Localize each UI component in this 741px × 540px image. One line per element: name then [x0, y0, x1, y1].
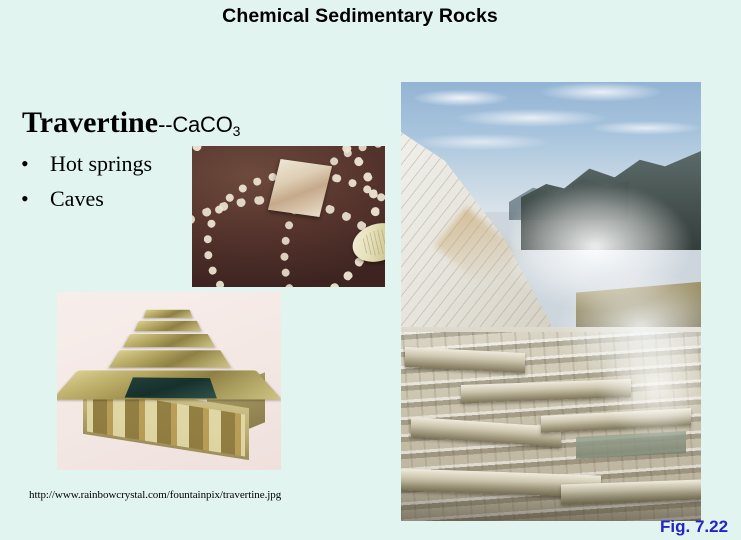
fountain-tier [143, 310, 192, 318]
image-credit-url: http://www.rainbowcrystal.com/fountainpi… [29, 489, 281, 501]
fountain-tier [109, 350, 231, 367]
list-item-label: Hot springs [50, 151, 152, 176]
formula-prefix: --CaCO [158, 112, 233, 137]
bullet-icon: • [21, 185, 29, 213]
fountain-tier [123, 334, 215, 347]
slide-canvas: Chemical Sedimentary Rocks Travertine--C… [0, 0, 741, 540]
foreground-shadow [401, 482, 701, 521]
heading-term: Travertine [22, 106, 158, 139]
travertine-terrace-photo [401, 82, 701, 521]
fountain-water-pool [125, 377, 217, 398]
section-heading: Travertine--CaCO3 [22, 108, 240, 138]
steam-plume [591, 332, 701, 452]
list-item-label: Caves [50, 186, 104, 211]
travertine-fountain-photo [57, 292, 281, 470]
figure-caption: Fig. 7.22 [660, 517, 728, 537]
fountain-tier [135, 321, 202, 331]
travertine-beads-photo [192, 146, 385, 287]
bullet-icon: • [21, 150, 29, 178]
heading-formula: --CaCO3 [158, 112, 240, 137]
formula-subscript: 3 [233, 123, 241, 139]
page-title: Chemical Sedimentary Rocks [0, 5, 720, 28]
